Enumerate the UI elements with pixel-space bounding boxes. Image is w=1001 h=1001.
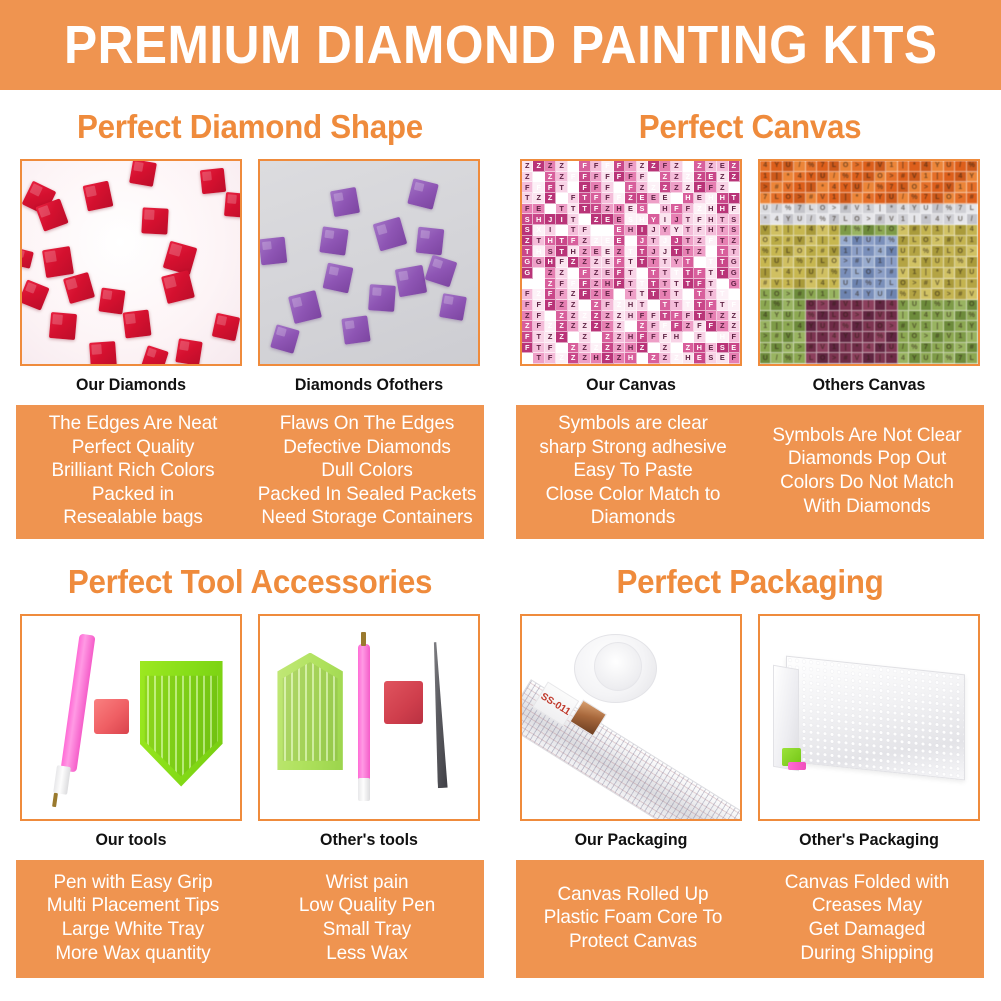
canvas-symbol-cell: | bbox=[840, 193, 851, 204]
canvas-symbol-cell: E bbox=[706, 172, 717, 183]
canvas-symbol-cell: Y bbox=[806, 172, 817, 183]
canvas-symbol-cell: % bbox=[875, 182, 886, 193]
page-title: PREMIUM DIAMOND PAINTING KITS bbox=[64, 18, 938, 72]
canvas-symbol-cell: 7 bbox=[794, 204, 805, 215]
diamond-bead bbox=[416, 227, 445, 256]
canvas-symbol-cell: J bbox=[637, 236, 648, 247]
canvas-symbol-cell: Z bbox=[602, 204, 613, 215]
canvas-symbol-cell: Z bbox=[694, 172, 705, 183]
canvas-symbol-cell: Z bbox=[591, 311, 602, 322]
canvas-symbol-cell: F bbox=[729, 204, 740, 215]
canvas-symbol-cell: H bbox=[556, 193, 567, 204]
canvas-symbol-cell: 7 bbox=[817, 161, 828, 172]
canvas-symbol-cell: F bbox=[591, 204, 602, 215]
canvas-symbol-cell: 4 bbox=[921, 161, 932, 172]
canvas-symbol-cell: T bbox=[671, 246, 682, 257]
feature-list-our-canvas: Symbols are clearsharp Strong adhesiveEa… bbox=[520, 412, 747, 530]
canvas-symbol-cell: 7 bbox=[921, 343, 932, 354]
feature-line: Plastic Foam Core To bbox=[523, 906, 742, 930]
small-tray-grooves bbox=[277, 653, 342, 771]
canvas-symbol-cell: H bbox=[625, 353, 636, 364]
image-other-canvas[interactable]: 4YU/%7LO>#V1|*4YU/%1|*4YU/%7LO>#V1|*4Y>#… bbox=[758, 159, 980, 366]
canvas-symbol-cell: T bbox=[660, 279, 671, 290]
canvas-symbol-cell: Z bbox=[625, 193, 636, 204]
canvas-symbol-cell: V bbox=[840, 300, 851, 311]
canvas-symbol-cell: F bbox=[660, 161, 671, 172]
canvas-symbol-cell: Y bbox=[829, 279, 840, 290]
canvas-symbol-cell: 1 bbox=[955, 332, 966, 343]
canvas-symbol-cell: H bbox=[591, 353, 602, 364]
section-row-2: Perfect Tool Accessories bbox=[0, 545, 1001, 1000]
canvas-symbol-cell: 7 bbox=[909, 289, 920, 300]
canvas-symbol-cell: / bbox=[829, 321, 840, 332]
canvas-symbol-cell: T bbox=[706, 279, 717, 290]
canvas-symbol-cell: H bbox=[545, 236, 556, 247]
canvas-symbol-cell: H bbox=[545, 257, 556, 268]
canvas-symbol-cell: 1 bbox=[932, 225, 943, 236]
canvas-symbol-cell: E bbox=[602, 268, 613, 279]
diamond-bead bbox=[212, 313, 240, 341]
caption-our-canvas: Our Canvas bbox=[527, 375, 736, 395]
canvas-symbol-cell: E bbox=[660, 193, 671, 204]
canvas-symbol-cell: E bbox=[706, 343, 717, 354]
canvas-symbol-cell: Z bbox=[729, 182, 740, 193]
canvas-symbol-cell: X bbox=[533, 225, 544, 236]
canvas-symbol-cell: Z bbox=[706, 332, 717, 343]
feature-line: Need Storage Containers bbox=[257, 506, 476, 530]
feature-line: Dull Colors bbox=[257, 459, 476, 483]
canvas-symbol-cell: F bbox=[648, 311, 659, 322]
canvas-symbol-cell: 4 bbox=[944, 268, 955, 279]
canvas-symbol-cell: Z bbox=[637, 182, 648, 193]
canvas-symbol-cell: F bbox=[591, 193, 602, 204]
canvas-symbol-cell: O bbox=[760, 236, 771, 247]
image-our-packaging[interactable]: SS-011 bbox=[520, 614, 742, 821]
diamond-bead bbox=[424, 255, 457, 288]
canvas-symbol-cell: Y bbox=[967, 172, 978, 183]
canvas-symbol-cell: % bbox=[955, 257, 966, 268]
canvas-symbol-cell: O bbox=[794, 246, 805, 257]
canvas-symbol-cell: # bbox=[932, 332, 943, 343]
canvas-symbol-cell: Z bbox=[614, 246, 625, 257]
canvas-symbol-cell: G bbox=[648, 204, 659, 215]
canvas-symbol-cell: # bbox=[794, 289, 805, 300]
canvas-symbol-cell: 1 bbox=[921, 321, 932, 332]
feature-line: Diamonds bbox=[523, 506, 742, 530]
canvas-symbol-cell: * bbox=[783, 321, 794, 332]
canvas-symbol-cell: U bbox=[794, 214, 805, 225]
canvas-symbol-cell: T bbox=[717, 268, 728, 279]
canvas-symbol-cell: 1 bbox=[840, 246, 851, 257]
canvas-symbol-cell: 7 bbox=[932, 246, 943, 257]
diamond-bead bbox=[141, 345, 168, 366]
canvas-symbol-cell: > bbox=[806, 246, 817, 257]
canvas-symbol-cell: F bbox=[545, 204, 556, 215]
pen-metal-tip-icon bbox=[52, 792, 58, 807]
canvas-symbol-cell: Z bbox=[545, 172, 556, 183]
diamond-bead bbox=[259, 237, 288, 266]
canvas-symbol-cell: | bbox=[760, 268, 771, 279]
canvas-symbol-cell: H bbox=[614, 204, 625, 215]
canvas-symbol-cell: F bbox=[545, 353, 556, 364]
canvas-symbol-cell: * bbox=[783, 172, 794, 183]
canvas-symbol-cell: 7 bbox=[955, 353, 966, 364]
canvas-symbol-cell: > bbox=[944, 289, 955, 300]
canvas-symbol-cell: V bbox=[909, 172, 920, 183]
canvas-symbol-cell: F bbox=[706, 182, 717, 193]
canvas-symbol-cell: U bbox=[967, 268, 978, 279]
canvas-symbol-cell: Z bbox=[579, 332, 590, 343]
canvas-symbol-cell: S bbox=[717, 343, 728, 354]
canvas-symbol-cell: Z bbox=[522, 236, 533, 247]
canvas-symbol-cell: # bbox=[932, 182, 943, 193]
canvas-symbol-cell: F bbox=[522, 332, 533, 343]
canvas-symbol-cell: J bbox=[648, 246, 659, 257]
canvas-symbol-cell: * bbox=[863, 246, 874, 257]
canvas-symbol-cell: H bbox=[706, 225, 717, 236]
canvas-symbol-cell: 7 bbox=[760, 193, 771, 204]
canvas-symbol-cell: F bbox=[591, 182, 602, 193]
canvas-symbol-cell: F bbox=[579, 289, 590, 300]
canvas-symbol-cell: G bbox=[522, 279, 533, 290]
red-diamond-beads-art bbox=[22, 161, 240, 364]
canvas-symbol-cell: G bbox=[729, 257, 740, 268]
canvas-symbol-cell: 4 bbox=[817, 279, 828, 290]
canvas-symbol-cell: 7 bbox=[898, 236, 909, 247]
canvas-symbol-cell: | bbox=[875, 204, 886, 215]
feature-list-other-packaging: Canvas Folded withCreases MayGet Damaged… bbox=[754, 867, 981, 969]
canvas-symbol-cell: 4 bbox=[794, 172, 805, 183]
feature-line: Brilliant Rich Colors bbox=[23, 459, 242, 483]
canvas-symbol-cell: T bbox=[671, 279, 682, 290]
canvas-symbol-cell: Z bbox=[579, 343, 590, 354]
canvas-symbol-cell: H bbox=[625, 311, 636, 322]
canvas-symbol-cell: Z bbox=[579, 300, 590, 311]
canvas-symbol-cell: H bbox=[683, 332, 694, 343]
canvas-symbol-cell: I bbox=[556, 225, 567, 236]
canvas-symbol-cell: Y bbox=[794, 268, 805, 279]
canvas-symbol-cell: O bbox=[886, 225, 897, 236]
canvas-symbol-cell: # bbox=[852, 257, 863, 268]
canvas-symbol-cell: # bbox=[898, 321, 909, 332]
canvas-symbol-cell: E bbox=[602, 246, 613, 257]
canvas-symbol-cell: L bbox=[829, 311, 840, 322]
canvas-symbol-cell: % bbox=[794, 257, 805, 268]
canvas-symbol-cell: F bbox=[694, 214, 705, 225]
image-our-tools[interactable] bbox=[20, 614, 242, 821]
canvas-symbol-cell: F bbox=[591, 172, 602, 183]
canvas-symbol-cell: % bbox=[944, 353, 955, 364]
feature-line: Perfect Quality bbox=[23, 436, 242, 460]
canvas-symbol-cell: F bbox=[614, 268, 625, 279]
canvas-symbol-cell: F bbox=[683, 204, 694, 215]
canvas-symbol-cell: Z bbox=[591, 236, 602, 247]
canvas-symbol-cell: 4 bbox=[886, 300, 897, 311]
canvas-symbol-cell: Z bbox=[579, 321, 590, 332]
canvas-symbol-cell: O bbox=[829, 257, 840, 268]
canvas-symbol-cell: T bbox=[568, 225, 579, 236]
canvas-symbol-cell: F bbox=[694, 321, 705, 332]
canvas-symbol-cell: Y bbox=[783, 214, 794, 225]
canvas-symbol-cell: 7 bbox=[967, 257, 978, 268]
diamond-bead bbox=[395, 264, 428, 297]
feature-box-canvas: Symbols are clearsharp Strong adhesiveEa… bbox=[516, 405, 984, 539]
canvas-symbol-cell: V bbox=[829, 246, 840, 257]
feature-list-other-tools: Wrist painLow Quality PenSmall TrayLess … bbox=[254, 867, 481, 969]
diamond-bead bbox=[330, 187, 360, 217]
canvas-symbol-cell: 4 bbox=[829, 182, 840, 193]
caption-our-tools: Our tools bbox=[27, 830, 236, 850]
canvas-symbol-cell: Z bbox=[602, 353, 613, 364]
canvas-symbol-cell: % bbox=[840, 172, 851, 183]
canvas-symbol-cell: % bbox=[886, 236, 897, 247]
canvas-symbol-cell: > bbox=[886, 321, 897, 332]
canvas-symbol-cell: # bbox=[783, 236, 794, 247]
canvas-symbol-cell: Y bbox=[863, 289, 874, 300]
canvas-symbol-cell: Y bbox=[967, 321, 978, 332]
canvas-symbol-cell: T bbox=[637, 289, 648, 300]
bubble-mailer-art bbox=[760, 616, 978, 819]
canvas-symbol-cell: Z bbox=[614, 343, 625, 354]
canvas-symbol-cell: # bbox=[967, 193, 978, 204]
canvas-symbol-cell: 7 bbox=[875, 279, 886, 290]
thumbnail-pair-canvas: ZZZZZFFFFFZZFZZZZEZZZZZFFFFFFFZZZZZEZZFF… bbox=[508, 159, 992, 395]
canvas-symbol-cell: 1 bbox=[760, 321, 771, 332]
canvas-symbol-cell: | bbox=[840, 343, 851, 354]
canvas-symbol-cell: E bbox=[602, 236, 613, 247]
canvas-symbol-cell: Z bbox=[533, 289, 544, 300]
canvas-symbol-cell: / bbox=[817, 268, 828, 279]
canvas-symbol-cell: F bbox=[602, 193, 613, 204]
canvas-symbol-cell: E bbox=[694, 193, 705, 204]
canvas-symbol-cell: > bbox=[760, 332, 771, 343]
canvas-symbol-cell: Z bbox=[648, 182, 659, 193]
canvas-symbol-cell: # bbox=[863, 161, 874, 172]
thumbnail-pair-tools: Our tools bbox=[8, 614, 492, 850]
canvas-symbol-cell: F bbox=[522, 353, 533, 364]
canvas-symbol-cell: F bbox=[694, 332, 705, 343]
canvas-symbol-cell: F bbox=[706, 300, 717, 311]
canvas-symbol-cell: 7 bbox=[886, 332, 897, 343]
canvas-symbol-cell: Z bbox=[591, 279, 602, 290]
thumb-cell-our-diamonds: Our Diamonds bbox=[20, 159, 242, 395]
canvas-symbol-cell: 4 bbox=[955, 172, 966, 183]
canvas-symbol-cell: Z bbox=[683, 321, 694, 332]
section-canvas: Perfect Canvas ZZZZZFFFFFZZFZZZZEZZZZZFF… bbox=[500, 90, 1000, 545]
canvas-symbol-cell: Z bbox=[568, 311, 579, 322]
canvas-symbol-cell: | bbox=[909, 214, 920, 225]
canvas-symbol-cell: | bbox=[863, 300, 874, 311]
canvas-symbol-cell: V bbox=[852, 204, 863, 215]
image-our-diamonds[interactable] bbox=[20, 159, 242, 366]
canvas-symbol-cell: F bbox=[729, 353, 740, 364]
image-other-tools[interactable] bbox=[258, 614, 480, 821]
canvas-symbol-cell: T bbox=[717, 279, 728, 290]
canvas-symbol-cell: / bbox=[806, 214, 817, 225]
canvas-symbol-cell: J bbox=[660, 246, 671, 257]
image-our-canvas[interactable]: ZZZZZFFFFFZZFZZZZEZZZZZFFFFFFFZZZZZEZZFF… bbox=[520, 159, 742, 366]
feature-line: Symbols Are Not Clear bbox=[757, 424, 976, 448]
canvas-symbol-cell: T bbox=[637, 268, 648, 279]
canvas-symbol-cell: T bbox=[648, 268, 659, 279]
canvas-symbol-cell: T bbox=[717, 300, 728, 311]
canvas-symbol-cell: Z bbox=[556, 332, 567, 343]
canvas-symbol-cell: H bbox=[625, 332, 636, 343]
canvas-symbol-cell: Z bbox=[579, 257, 590, 268]
canvas-symbol-cell: Z bbox=[625, 321, 636, 332]
canvas-symbol-cell: Z bbox=[522, 161, 533, 172]
canvas-symbol-cell: E bbox=[729, 343, 740, 354]
canvas-symbol-cell: Z bbox=[660, 353, 671, 364]
canvas-symbol-cell: > bbox=[863, 214, 874, 225]
canvas-symbol-cell: 7 bbox=[783, 300, 794, 311]
canvas-symbol-cell: H bbox=[568, 332, 579, 343]
canvas-symbol-cell: F bbox=[614, 182, 625, 193]
canvas-symbol-cell: U bbox=[863, 236, 874, 247]
canvas-symbol-cell: F bbox=[568, 236, 579, 247]
canvas-symbol-cell: T bbox=[648, 300, 659, 311]
canvas-symbol-cell: Z bbox=[660, 182, 671, 193]
tweezers-icon bbox=[431, 642, 448, 788]
canvas-symbol-cell: Z bbox=[579, 353, 590, 364]
low-quality-pen-metal-icon bbox=[361, 632, 366, 646]
canvas-symbol-cell: # bbox=[806, 343, 817, 354]
canvas-symbol-cell: O bbox=[783, 343, 794, 354]
canvas-symbol-cell: I bbox=[637, 225, 648, 236]
canvas-symbol-cell: # bbox=[829, 300, 840, 311]
canvas-symbol-cell: Z bbox=[648, 161, 659, 172]
canvas-symbol-cell: T bbox=[625, 246, 636, 257]
canvas-symbol-cell: | bbox=[875, 353, 886, 364]
mailer-body-icon bbox=[786, 655, 965, 779]
canvas-symbol-cell: E bbox=[591, 246, 602, 257]
tube-package-art: SS-011 bbox=[522, 616, 740, 819]
feature-line: Large White Tray bbox=[23, 918, 242, 942]
canvas-symbol-cell: 1 bbox=[852, 300, 863, 311]
canvas-symbol-cell: | bbox=[829, 289, 840, 300]
canvas-symbol-cell: F bbox=[602, 182, 613, 193]
canvas-symbol-cell: F bbox=[579, 279, 590, 290]
canvas-symbol-cell: H bbox=[648, 343, 659, 354]
canvas-symbol-cell: Y bbox=[806, 321, 817, 332]
canvas-symbol-cell: T bbox=[637, 300, 648, 311]
canvas-symbol-cell: Z bbox=[556, 311, 567, 322]
canvas-symbol-cell: # bbox=[921, 279, 932, 290]
canvas-symbol-cell: Z bbox=[683, 343, 694, 354]
canvas-symbol-cell: > bbox=[921, 182, 932, 193]
canvas-symbol-cell: Y bbox=[671, 257, 682, 268]
canvas-symbol-cell: T bbox=[648, 257, 659, 268]
canvas-symbol-cell: O bbox=[921, 236, 932, 247]
image-other-diamonds[interactable] bbox=[258, 159, 480, 366]
canvas-symbol-cell: 7 bbox=[886, 182, 897, 193]
canvas-symbol-cell: O bbox=[898, 279, 909, 290]
canvas-symbol-cell: Y bbox=[840, 332, 851, 343]
canvas-symbol-cell: 4 bbox=[771, 214, 782, 225]
diamond-bead bbox=[83, 181, 114, 212]
canvas-symbol-cell: Y bbox=[886, 246, 897, 257]
canvas-symbol-cell: U bbox=[921, 204, 932, 215]
feature-line: The Edges Are Neat bbox=[23, 412, 242, 436]
canvas-symbol-cell: U bbox=[817, 172, 828, 183]
image-other-packaging[interactable] bbox=[758, 614, 980, 821]
small-wax-square-icon bbox=[384, 681, 423, 724]
canvas-symbol-cell: * bbox=[806, 279, 817, 290]
canvas-symbol-cell: 4 bbox=[898, 353, 909, 364]
feature-line: Pen with Easy Grip bbox=[23, 871, 242, 895]
diamond-bead bbox=[89, 341, 117, 366]
canvas-symbol-cell: T bbox=[660, 257, 671, 268]
canvas-symbol-cell: Z bbox=[660, 343, 671, 354]
canvas-symbol-cell: % bbox=[967, 161, 978, 172]
our-tools-art bbox=[22, 616, 240, 819]
canvas-symbol-cell: E bbox=[717, 353, 728, 364]
canvas-symbol-cell: / bbox=[840, 225, 851, 236]
canvas-symbol-cell: Z bbox=[614, 353, 625, 364]
canvas-symbol-cell: % bbox=[921, 246, 932, 257]
canvas-symbol-cell: T bbox=[706, 268, 717, 279]
canvas-symbol-cell: J bbox=[648, 225, 659, 236]
canvas-symbol-cell: E bbox=[602, 225, 613, 236]
diamond-bead bbox=[20, 279, 50, 310]
canvas-symbol-cell: T bbox=[568, 214, 579, 225]
canvas-symbol-cell: F bbox=[694, 225, 705, 236]
canvas-symbol-cell: | bbox=[771, 172, 782, 183]
diamond-bead bbox=[319, 226, 349, 255]
thumb-cell-other-canvas: 4YU/%7LO>#V1|*4YU/%1|*4YU/%7LO>#V1|*4Y>#… bbox=[758, 159, 980, 395]
canvas-symbol-cell: 1 bbox=[886, 311, 897, 322]
canvas-symbol-cell: L bbox=[944, 246, 955, 257]
canvas-symbol-cell: E bbox=[625, 204, 636, 215]
canvas-symbol-cell: 1 bbox=[760, 172, 771, 183]
canvas-symbol-cell: T bbox=[625, 289, 636, 300]
canvas-symbol-cell: / bbox=[898, 193, 909, 204]
canvas-symbol-cell: H bbox=[683, 193, 694, 204]
canvas-symbol-cell: H bbox=[717, 204, 728, 215]
canvas-symbol-cell: F bbox=[614, 161, 625, 172]
canvas-symbol-cell: 1 bbox=[829, 343, 840, 354]
canvas-symbol-cell: L bbox=[955, 300, 966, 311]
canvas-symbol-cell: Z bbox=[717, 321, 728, 332]
canvas-symbol-cell: Z bbox=[568, 300, 579, 311]
canvas-symbol-cell: Z bbox=[637, 321, 648, 332]
canvas-symbol-cell: S bbox=[533, 268, 544, 279]
canvas-symbol-cell: O bbox=[909, 332, 920, 343]
canvas-symbol-cell: L bbox=[909, 236, 920, 247]
canvas-symbol-cell: H bbox=[706, 193, 717, 204]
canvas-symbol-cell: % bbox=[783, 353, 794, 364]
canvas-symbol-cell: T bbox=[717, 214, 728, 225]
canvas-symbol-cell: 4 bbox=[806, 225, 817, 236]
canvas-symbol-cell: / bbox=[955, 161, 966, 172]
canvas-symbol-cell: G bbox=[522, 268, 533, 279]
canvas-symbol-cell: 4 bbox=[794, 321, 805, 332]
canvas-symbol-cell: O bbox=[955, 246, 966, 257]
canvas-symbol-cell: # bbox=[967, 343, 978, 354]
canvas-symbol-cell: | bbox=[967, 182, 978, 193]
canvas-symbol-cell: Z bbox=[556, 343, 567, 354]
canvas-symbol-cell: Z bbox=[683, 182, 694, 193]
canvas-symbol-cell: O bbox=[852, 214, 863, 225]
canvas-symbol-cell: T bbox=[683, 268, 694, 279]
canvas-symbol-cell: F bbox=[614, 289, 625, 300]
canvas-symbol-cell: F bbox=[614, 279, 625, 290]
canvas-symbol-cell: 1 bbox=[863, 204, 874, 215]
canvas-symbol-cell: * bbox=[771, 268, 782, 279]
canvas-symbol-cell: O bbox=[771, 289, 782, 300]
canvas-symbol-cell: V bbox=[898, 268, 909, 279]
canvas-symbol-cell: J bbox=[660, 236, 671, 247]
